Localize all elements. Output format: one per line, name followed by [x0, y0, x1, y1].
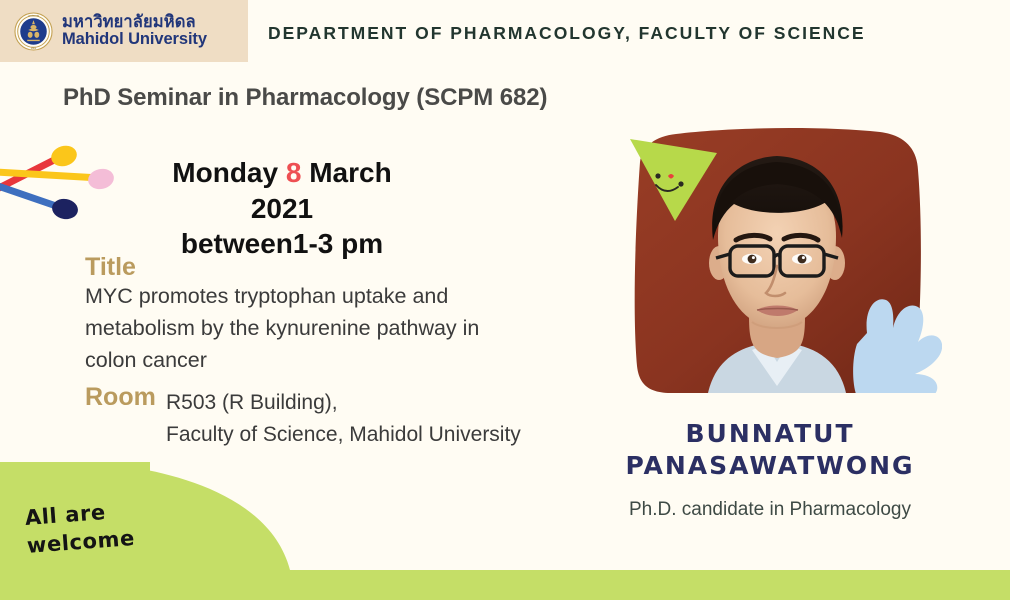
university-name-english: Mahidol University — [62, 31, 207, 48]
seminar-course-line: PhD Seminar in Pharmacology (SCPM 682) — [63, 84, 547, 112]
seminar-date-time: Monday 8 March 2021 between1-3 pm — [142, 155, 422, 262]
university-name-thai: มหาวิทยาลัยมหิดล — [62, 14, 207, 31]
room-line-1: R503 (R Building), — [166, 387, 586, 419]
seminar-date-line: Monday 8 March 2021 — [142, 155, 422, 226]
seminar-poster: All are welcome มหาวิทยาลัย มหิดล — [0, 0, 1010, 600]
decorative-pin-shapes — [0, 130, 135, 225]
svg-text:มหาวิทยาลัย: มหาวิทยาลัย — [28, 14, 40, 17]
room-text: R503 (R Building), Faculty of Science, M… — [166, 387, 586, 451]
department-title: DEPARTMENT OF PHARMACOLOGY, FACULTY OF S… — [268, 23, 866, 44]
svg-text:มหิดล: มหิดล — [31, 47, 37, 50]
university-logo-panel: มหาวิทยาลัย มหิดล มหาวิทยาลัยมหิดล Mahid… — [0, 0, 248, 62]
university-name: มหาวิทยาลัยมหิดล Mahidol University — [62, 14, 207, 48]
speaker-name: BUNNATUT PANASAWATWONG — [600, 418, 940, 482]
speaker-name-line-2: PANASAWATWONG — [600, 450, 940, 482]
seminar-time-line: between1-3 pm — [142, 226, 422, 262]
room-label: Room — [85, 383, 156, 412]
seminar-day: Monday — [172, 157, 278, 188]
title-label: Title — [85, 253, 136, 282]
speaker-role: Ph.D. candidate in Pharmacology — [600, 499, 940, 521]
speaker-name-line-1: BUNNATUT — [600, 418, 940, 450]
room-line-2: Faculty of Science, Mahidol University — [166, 419, 586, 451]
speaker-portrait — [612, 118, 942, 393]
seminar-date-number: 8 — [286, 157, 302, 188]
mahidol-seal-icon: มหาวิทยาลัย มหิดล — [14, 12, 53, 51]
talk-title-text: MYC promotes tryptophan uptake and metab… — [85, 281, 515, 376]
